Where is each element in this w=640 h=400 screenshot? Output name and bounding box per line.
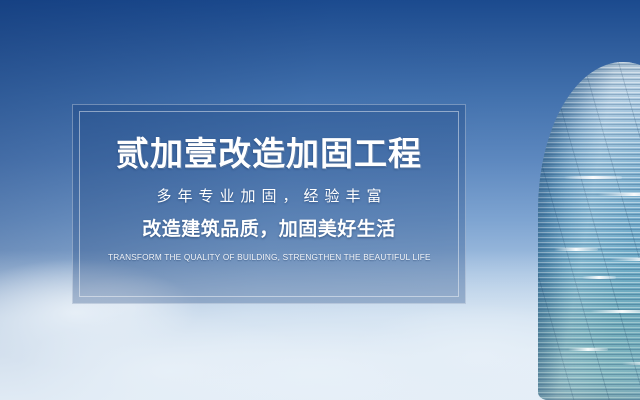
text-panel: 贰加壹改造加固工程 多年专业加固，经验丰富 改造建筑品质，加固美好生活 TRAN… <box>72 104 466 304</box>
banner-tagline: 改造建筑品质，加固美好生活 <box>142 218 396 242</box>
window-reflection <box>564 176 622 179</box>
window-reflection <box>582 276 616 279</box>
window-reflection <box>590 310 640 313</box>
tower-body <box>538 62 640 400</box>
banner-subline: 多年专业加固，经验丰富 <box>150 187 387 207</box>
banner-english-slogan: TRANSFORM THE QUALITY OF BUILDING, STREN… <box>108 251 431 263</box>
banner-headline: 贰加壹改造加固工程 <box>116 135 422 173</box>
window-reflection <box>610 258 640 261</box>
panel-content: 贰加壹改造加固工程 多年专业加固，经验丰富 改造建筑品质，加固美好生活 TRAN… <box>73 105 465 303</box>
window-reflection <box>598 193 640 196</box>
window-reflection <box>622 362 640 365</box>
window-reflection <box>554 248 598 251</box>
hero-banner: 贰加壹改造加固工程 多年专业加固，经验丰富 改造建筑品质，加固美好生活 TRAN… <box>0 0 640 400</box>
skyscraper-building <box>520 0 640 400</box>
window-reflection <box>568 348 608 351</box>
